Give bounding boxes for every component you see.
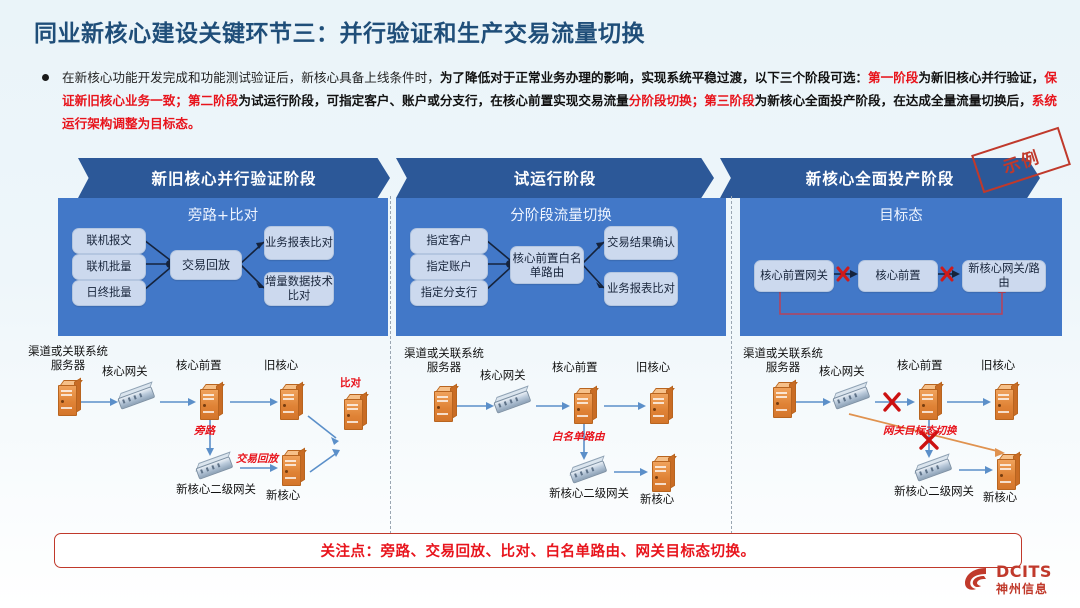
- phase-3-chain-2[interactable]: 核心前置: [858, 260, 938, 292]
- d2-whitelist-route-label: 白名单路由: [552, 430, 605, 444]
- d2-old-core-icon: [646, 388, 672, 422]
- d2-new-core-l2-gateway-label: 新核心二级网关: [548, 486, 630, 500]
- phase-2-input-3[interactable]: 指定分支行: [410, 280, 488, 306]
- phase-1-panel: 旁路+比对 联机报文 联机批量 日终批量 交易回放 业务报表比对 增量数据技术比…: [58, 198, 388, 336]
- d2-source-server-icon: [430, 386, 456, 420]
- intro-paragraph: 在新核心功能开发完成和功能测试验证后，新核心具备上线条件时，为了降低对于正常业务…: [62, 66, 1062, 135]
- phase-2-output-1[interactable]: 交易结果确认: [604, 226, 678, 260]
- diagram-phase-3: 渠道或关联系统服务器 核心网关 核心前置 旧核心 网关目标态切换: [733, 340, 1073, 532]
- column-divider-1: [390, 196, 391, 534]
- phase-3-chain-1[interactable]: 核心前置网关: [754, 260, 834, 292]
- phase-banner-row: 新旧核心并行验证阶段 试运行阶段 新核心全面投产阶段: [0, 158, 1080, 198]
- phase-1-input-3[interactable]: 日终批量: [72, 280, 146, 306]
- d2-core-frontend-label: 核心前置: [552, 360, 598, 374]
- para-seg-7: 为试运行阶段，可指定客户、账户或分支行，在核心前置实现交易流量: [238, 93, 628, 108]
- d2-core-gateway-label: 核心网关: [480, 368, 526, 382]
- d2-source-label: 渠道或关联系统服务器: [400, 346, 488, 374]
- phase-1-panel-title: 旁路+比对: [58, 204, 388, 225]
- d3-new-core-icon: [993, 454, 1019, 488]
- phase-2-input-1[interactable]: 指定客户: [410, 228, 488, 254]
- d3-new-core-l2-gateway-label: 新核心二级网关: [893, 484, 975, 498]
- phase-banner-1[interactable]: 新旧核心并行验证阶段: [78, 158, 390, 198]
- dcits-logo-cn: 神州信息: [996, 580, 1048, 597]
- d3-old-core-label: 旧核心: [981, 358, 1015, 372]
- phase-2-panel: 分阶段流量切换 指定客户 指定账户 指定分支行 核心前置白名单路由 交易结果确认…: [396, 198, 726, 336]
- d3-source-server-icon: [769, 382, 795, 416]
- d2-new-core-icon: [648, 456, 674, 490]
- d3-core-gateway-icon: [831, 382, 871, 411]
- d1-core-frontend-label: 核心前置: [176, 358, 222, 372]
- dcits-logo-en: DCITS: [996, 562, 1052, 581]
- d2-old-core-label: 旧核心: [636, 360, 670, 374]
- para-seg-1: 在新核心功能开发完成和功能测试验证后，新核心具备上线条件时，: [62, 70, 440, 85]
- phase-3-chain-3[interactable]: 新核心网关/路由: [962, 260, 1046, 292]
- phase-1-input-1[interactable]: 联机报文: [72, 228, 146, 254]
- d1-core-gateway-label: 核心网关: [102, 364, 148, 378]
- d3-core-frontend-label: 核心前置: [897, 358, 943, 372]
- phase-1-input-2[interactable]: 联机批量: [72, 254, 146, 280]
- d1-old-core-label: 旧核心: [264, 358, 298, 372]
- d1-new-core-l2-gateway-icon: [194, 452, 234, 481]
- d3-core-gateway-label: 核心网关: [819, 364, 865, 378]
- d2-core-frontend-icon: [570, 388, 596, 422]
- para-seg-3: 第一阶段: [868, 70, 918, 85]
- para-seg-8: 分阶段切换；: [629, 93, 705, 108]
- d1-compare-server-icon: [340, 394, 366, 428]
- page-title: 同业新核心建设关键环节三：并行验证和生产交易流量切换: [34, 14, 645, 48]
- d2-new-core-label: 新核心: [640, 492, 674, 506]
- d3-new-core-label: 新核心: [983, 490, 1017, 504]
- d3-old-core-icon: [991, 384, 1017, 418]
- dcits-logo: DCITS 神州信息: [962, 560, 1074, 600]
- phase-1-output-1[interactable]: 业务报表比对: [264, 226, 334, 260]
- d1-compare-label: 比对: [340, 376, 361, 390]
- d1-bypass-label: 旁路: [194, 424, 215, 438]
- column-divider-2: [731, 196, 732, 534]
- phase-3-panel: 目标态 核心前置网关 核心前置 新核心网关/路由: [740, 198, 1062, 336]
- para-seg-10: 为新核心全面投产阶段，在达成全量流量切换后，: [755, 93, 1032, 108]
- d1-source-server-icon: [54, 380, 80, 414]
- phase-2-output-2[interactable]: 业务报表比对: [604, 272, 678, 306]
- para-seg-9: 第三阶段: [704, 93, 754, 108]
- d1-core-frontend-icon: [196, 384, 222, 418]
- d1-new-core-label: 新核心: [266, 488, 300, 502]
- phase-2-input-2[interactable]: 指定账户: [410, 254, 488, 280]
- d1-new-core-l2-gateway-label: 新核心二级网关: [176, 482, 256, 496]
- d2-new-core-l2-gateway-icon: [568, 456, 608, 485]
- d3-gateway-target-switch-label: 网关目标态切换: [883, 424, 957, 438]
- d1-replay-label: 交易回放: [236, 452, 278, 466]
- d1-old-core-icon: [276, 384, 302, 418]
- d3-core-frontend-icon: [915, 384, 941, 418]
- d1-new-core-icon: [278, 450, 304, 484]
- slide-root: 同业新核心建设关键环节三：并行验证和生产交易流量切换 在新核心功能开发完成和功能…: [0, 0, 1080, 608]
- para-seg-6: 第二阶段: [188, 93, 238, 108]
- dcits-logo-mark-icon: [962, 563, 992, 593]
- phase-1-hub[interactable]: 交易回放: [170, 250, 242, 280]
- phase-3-panel-title: 目标态: [740, 204, 1062, 225]
- diagram-phase-2: 渠道或关联系统服务器 核心网关 核心前置 旧核心 白名单路由: [392, 340, 730, 532]
- para-seg-4: 为新旧核心并行验证，: [918, 70, 1044, 85]
- phase-banner-2[interactable]: 试运行阶段: [396, 158, 714, 198]
- d2-core-gateway-icon: [492, 386, 532, 415]
- d3-new-core-l2-gateway-icon: [913, 454, 953, 483]
- d3-source-label: 渠道或关联系统服务器: [739, 346, 827, 374]
- key-points-note: 关注点：旁路、交易回放、比对、白名单路由、网关目标态切换。: [54, 533, 1022, 568]
- bullet-marker: [42, 74, 49, 81]
- d1-source-label: 渠道或关联系统服务器: [24, 344, 112, 372]
- phase-2-hub[interactable]: 核心前置白名单路由: [510, 246, 584, 284]
- phase-2-panel-title: 分阶段流量切换: [396, 204, 726, 225]
- diagram-phase-1: 渠道或关联系统服务器 核心网关 核心前置 旧核心 比对: [18, 340, 390, 532]
- para-seg-2: 为了降低对于正常业务办理的影响，实现系统平稳过渡，以下三个阶段可选：: [440, 70, 868, 85]
- phase-1-output-2[interactable]: 增量数据技术比对: [264, 272, 334, 306]
- d1-core-gateway-icon: [116, 382, 156, 411]
